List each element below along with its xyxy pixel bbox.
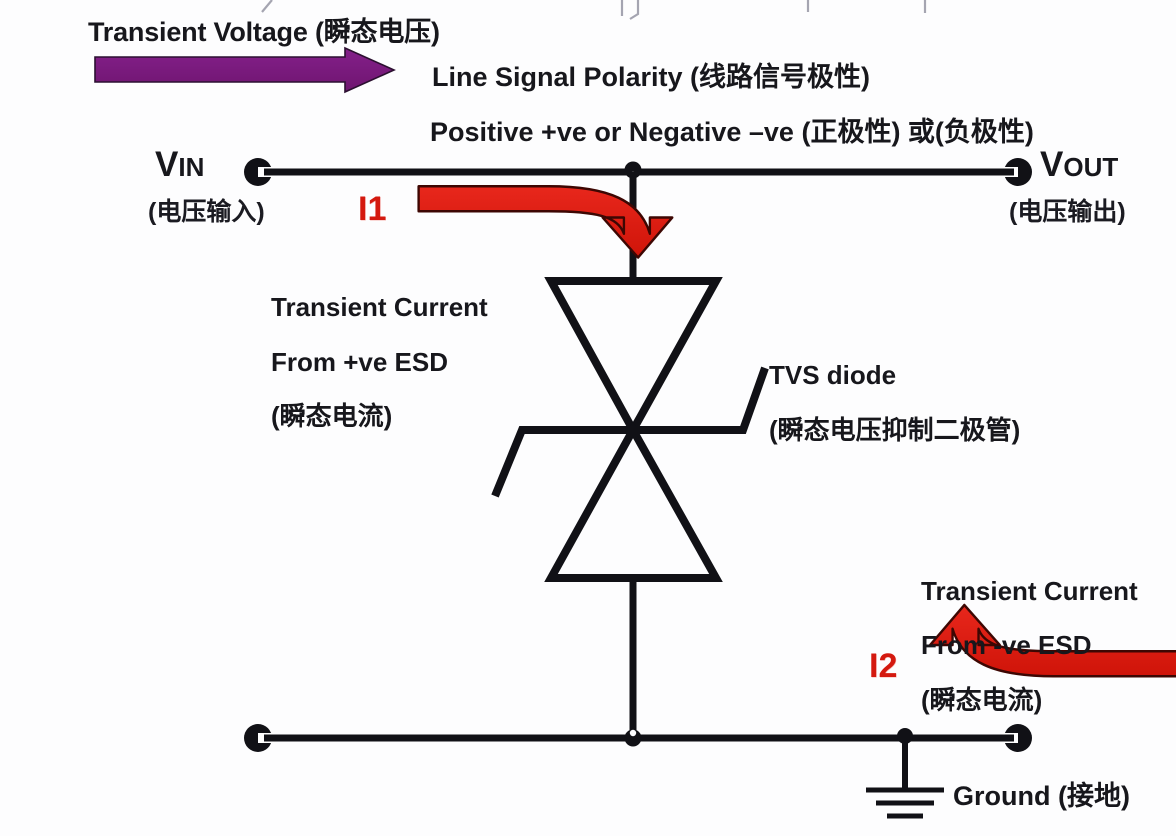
transient-voltage-arrow: [95, 48, 394, 92]
vout-label: VOUT: [1040, 147, 1118, 182]
ground-symbol: [866, 738, 944, 816]
vout-label-main: V: [1040, 145, 1063, 184]
ground-right-terminal-node: [980, 724, 1032, 752]
tvs-diode-name-label: TVS diode: [769, 362, 896, 388]
esd-negative-annotation-line1: Transient Current: [921, 578, 1138, 604]
ground-left-terminal-node: [244, 724, 300, 752]
esd-positive-annotation-line1: Transient Current: [271, 294, 488, 320]
esd-positive-annotation-line3: (瞬态电流): [271, 403, 392, 429]
ground-label: Ground (接地): [953, 783, 1130, 810]
i2-current-label: I2: [869, 649, 897, 683]
vin-label: VIN: [155, 147, 204, 182]
vin-terminal-node: [244, 158, 300, 186]
tvs-diode-chinese-label: (瞬态电压抑制二极管): [769, 417, 1020, 443]
vin-chinese-label: (电压输入): [148, 200, 265, 225]
vout-chinese-label: (电压输出): [1009, 200, 1126, 225]
esd-positive-annotation-line2: From +ve ESD: [271, 349, 448, 375]
esd-negative-annotation-line3: (瞬态电流): [921, 687, 1042, 713]
ground-junction-node: [625, 730, 642, 747]
vin-label-subscript: IN: [178, 152, 204, 182]
esd-negative-annotation-line2: From -ve ESD: [921, 632, 1092, 658]
transient-voltage-label: Transient Voltage (瞬态电压): [88, 19, 440, 46]
line-signal-polarity-label: Line Signal Polarity (线路信号极性): [432, 64, 870, 91]
polarity-detail-label: Positive +ve or Negative –ve (正极性) 或(负极性…: [430, 119, 1034, 146]
vout-terminal-node: [980, 158, 1032, 186]
tvs-zener-bar: [495, 368, 765, 496]
diagram-canvas: Transient Voltage (瞬态电压) Line Signal Pol…: [0, 0, 1176, 836]
i1-current-label: I1: [358, 192, 386, 226]
vin-label-main: V: [155, 145, 178, 184]
vout-label-subscript: OUT: [1063, 152, 1118, 182]
